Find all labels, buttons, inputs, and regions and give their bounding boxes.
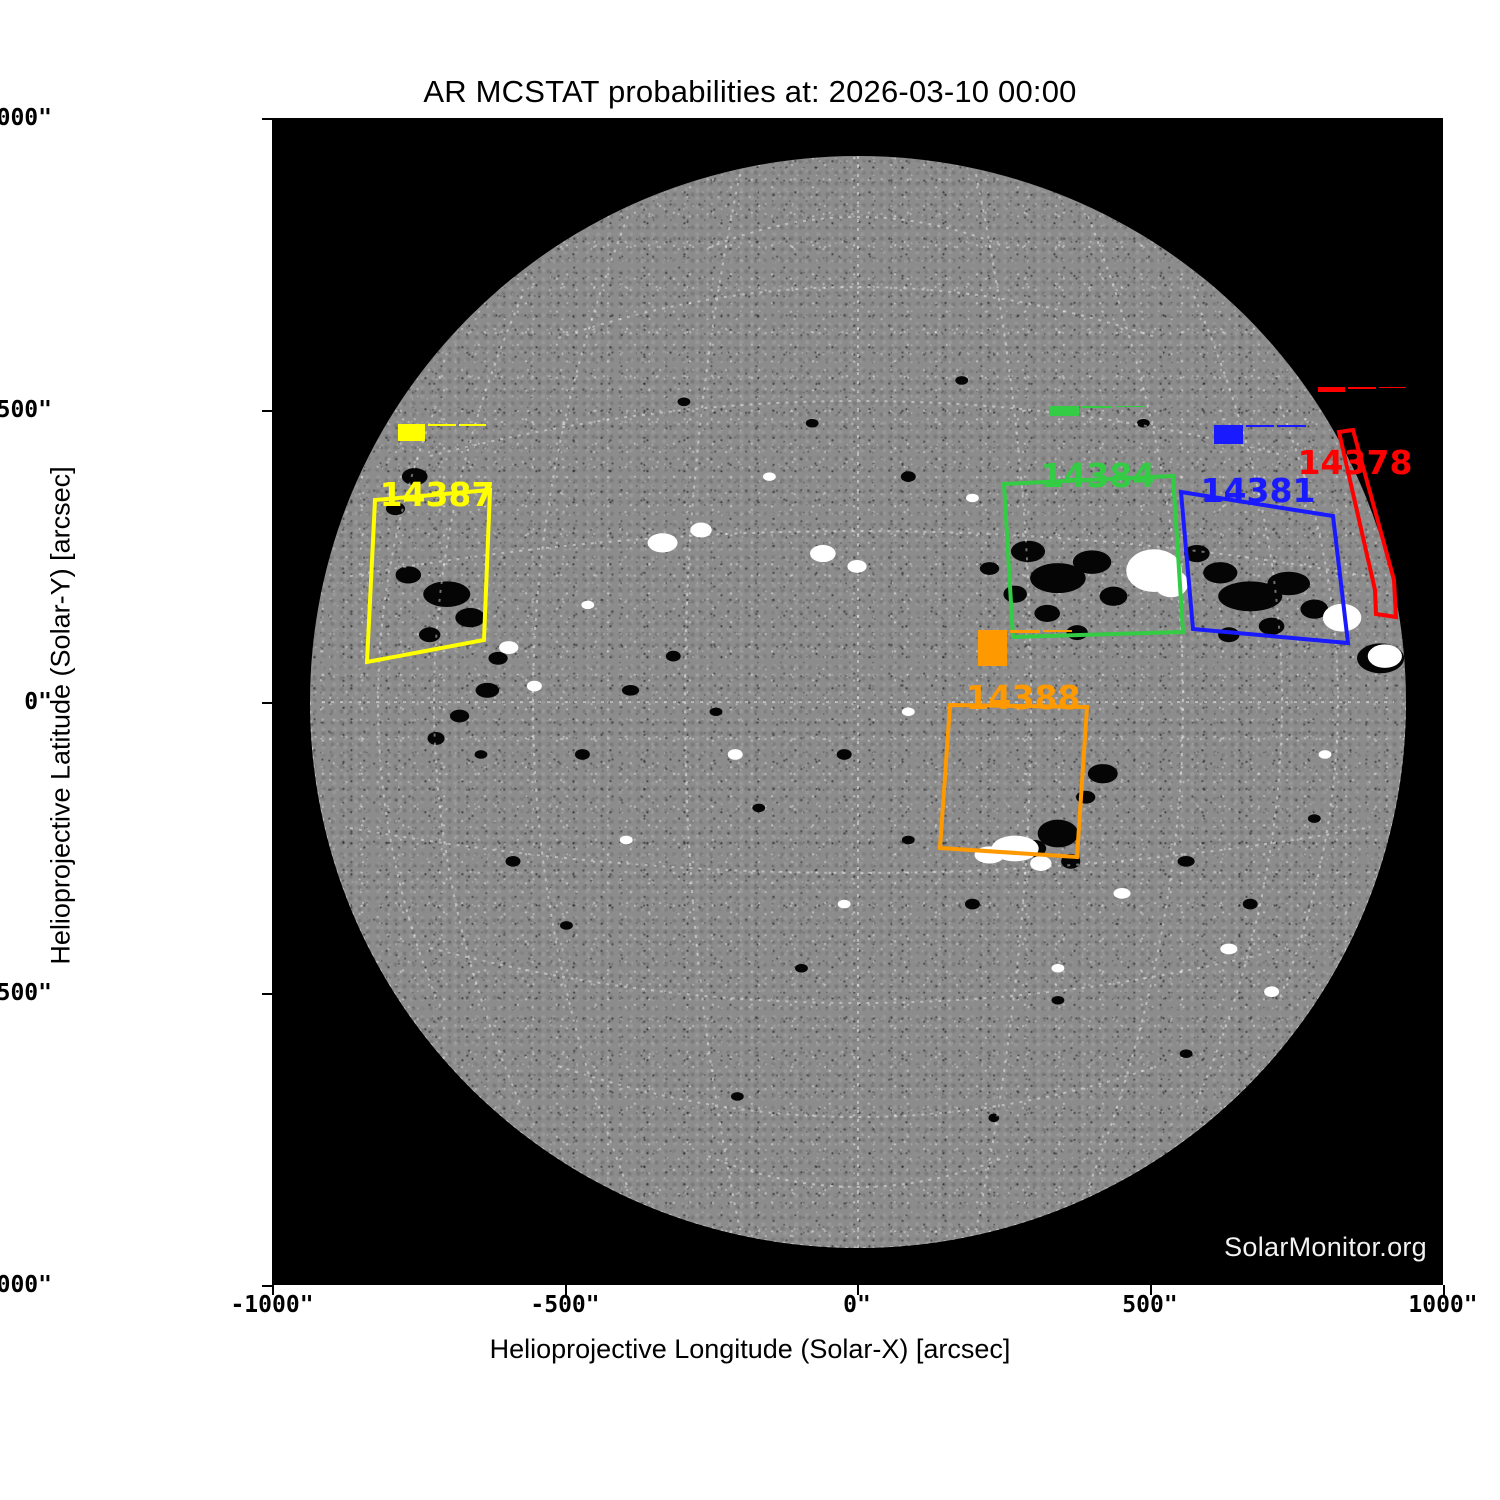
bar-fill — [1082, 406, 1112, 408]
xtick-label-0: 0" — [757, 1292, 957, 1318]
bar-fill — [428, 424, 455, 426]
ytick-label-1000: 1000" — [0, 105, 52, 131]
bar-fill — [1277, 425, 1306, 427]
bar-m — [1348, 387, 1375, 439]
xtick-label-neg1000: -1000" — [172, 1292, 372, 1318]
y-axis-title: Helioprojective Latitude (Solar-Y) [arcs… — [46, 266, 77, 1166]
bar-fill — [398, 424, 425, 441]
bar-c — [398, 424, 425, 482]
bar-fill — [1214, 425, 1243, 444]
ytick-label-500: 500" — [0, 397, 52, 423]
ar-label-14388: 14388 — [966, 678, 1081, 717]
xtick-mark — [272, 1285, 274, 1295]
solar-disk — [310, 156, 1406, 1248]
ytick-mark — [262, 702, 272, 704]
ytick-mark — [262, 118, 272, 120]
ytick-label-0: 0" — [0, 689, 52, 715]
bar-fill — [1043, 630, 1072, 632]
watermark: SolarMonitor.org — [1224, 1232, 1427, 1263]
bar-m — [428, 424, 455, 482]
bar-x — [1379, 387, 1406, 439]
bar-fill — [1049, 406, 1079, 416]
xtick-label-neg500: -500" — [465, 1292, 665, 1318]
xtick-label-1000: 1000" — [1343, 1292, 1500, 1318]
plot-area: 14387 14388 14384 14381 14378 SolarMonit… — [272, 118, 1443, 1285]
ar-probability-bars-14387 — [398, 424, 486, 482]
solar-disk-wrapper — [272, 118, 1443, 1285]
ar-label-14384: 14384 — [1041, 456, 1156, 495]
bar-fill — [1348, 387, 1375, 389]
ytick-mark — [262, 993, 272, 995]
bar-fill — [1115, 406, 1145, 407]
ytick-label-neg1000: -1000" — [0, 1272, 52, 1298]
bar-fill — [1246, 425, 1275, 427]
page-title: AR MCSTAT probabilities at: 2026-03-10 0… — [0, 74, 1500, 110]
bar-fill — [1318, 387, 1345, 392]
bar-fill — [459, 424, 486, 426]
ar-label-14387: 14387 — [380, 475, 495, 514]
bar-fill — [1379, 387, 1406, 388]
bar-x — [459, 424, 486, 482]
ar-label-14378: 14378 — [1298, 443, 1413, 482]
bar-fill — [978, 630, 1007, 666]
xtick-label-500: 500" — [1050, 1292, 1250, 1318]
xtick-mark — [857, 1285, 859, 1295]
magnetic-features — [310, 156, 1406, 1248]
xtick-mark — [565, 1285, 567, 1295]
xtick-mark — [1443, 1285, 1445, 1295]
ytick-mark — [262, 1285, 272, 1287]
ar-probability-bars-14378 — [1318, 387, 1406, 439]
solar-magnetogram-figure: AR MCSTAT probabilities at: 2026-03-10 0… — [0, 0, 1500, 1500]
bar-fill — [1010, 630, 1039, 633]
bar-c — [1318, 387, 1345, 439]
xtick-mark — [1150, 1285, 1152, 1295]
ytick-label-neg500: -500" — [0, 980, 52, 1006]
x-axis-title: Helioprojective Longitude (Solar-X) [arc… — [0, 1334, 1500, 1365]
ytick-mark — [262, 410, 272, 412]
